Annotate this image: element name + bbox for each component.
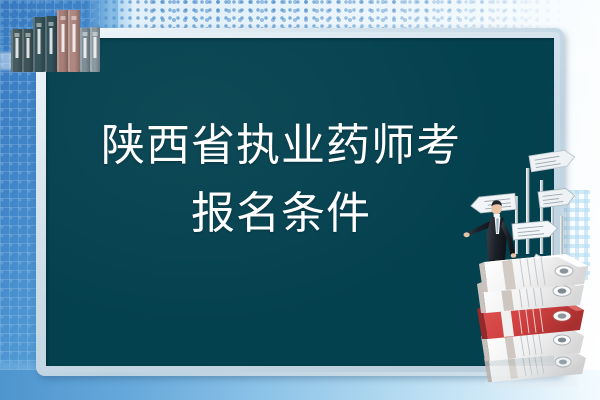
stacked-ring-binders [477,254,588,382]
binder-ring [93,32,98,36]
binder-2-icon [22,29,33,72]
binder-highlight [45,16,47,72]
binder-highlight [57,10,59,72]
binder-3-icon [33,17,45,72]
title-banner-image: 陕西省执业药师考报名条件 [0,0,600,400]
binder-label-strip [61,24,64,53]
binder-1-icon [11,29,22,72]
binder-5-icon [57,10,68,72]
page-title: 陕西省执业药师考报名条件 [46,112,516,248]
binder-label-strip [26,38,29,58]
binder-ring [83,32,88,36]
binder-label-strip [94,37,97,58]
binder-row-decoration [8,6,100,72]
binder-4-icon [45,16,57,72]
binder-ring [14,33,19,37]
binder-highlight [68,10,70,72]
binder-6-icon [68,10,80,72]
binder-ring [60,16,65,20]
binder-7-icon [80,28,90,72]
binder-highlight [22,29,24,72]
binder-label-strip [73,24,76,53]
page-title-line-1: 陕西省执业药师考 [101,121,461,170]
binder-label-strip [38,29,41,54]
page-title-line-2: 报名条件 [191,189,371,238]
businessman-binder-stack-illustration [452,150,600,400]
binder-ring [72,16,77,20]
binder-ring [25,33,30,37]
binder-label-strip [15,38,18,58]
binder-ring [49,22,54,26]
binder-label-strip [84,38,87,58]
binder-highlight [33,17,35,72]
binder-ring [37,23,42,27]
binder-8-icon [90,27,100,72]
binder-label-strip [50,28,53,54]
binder-highlight [11,29,13,72]
